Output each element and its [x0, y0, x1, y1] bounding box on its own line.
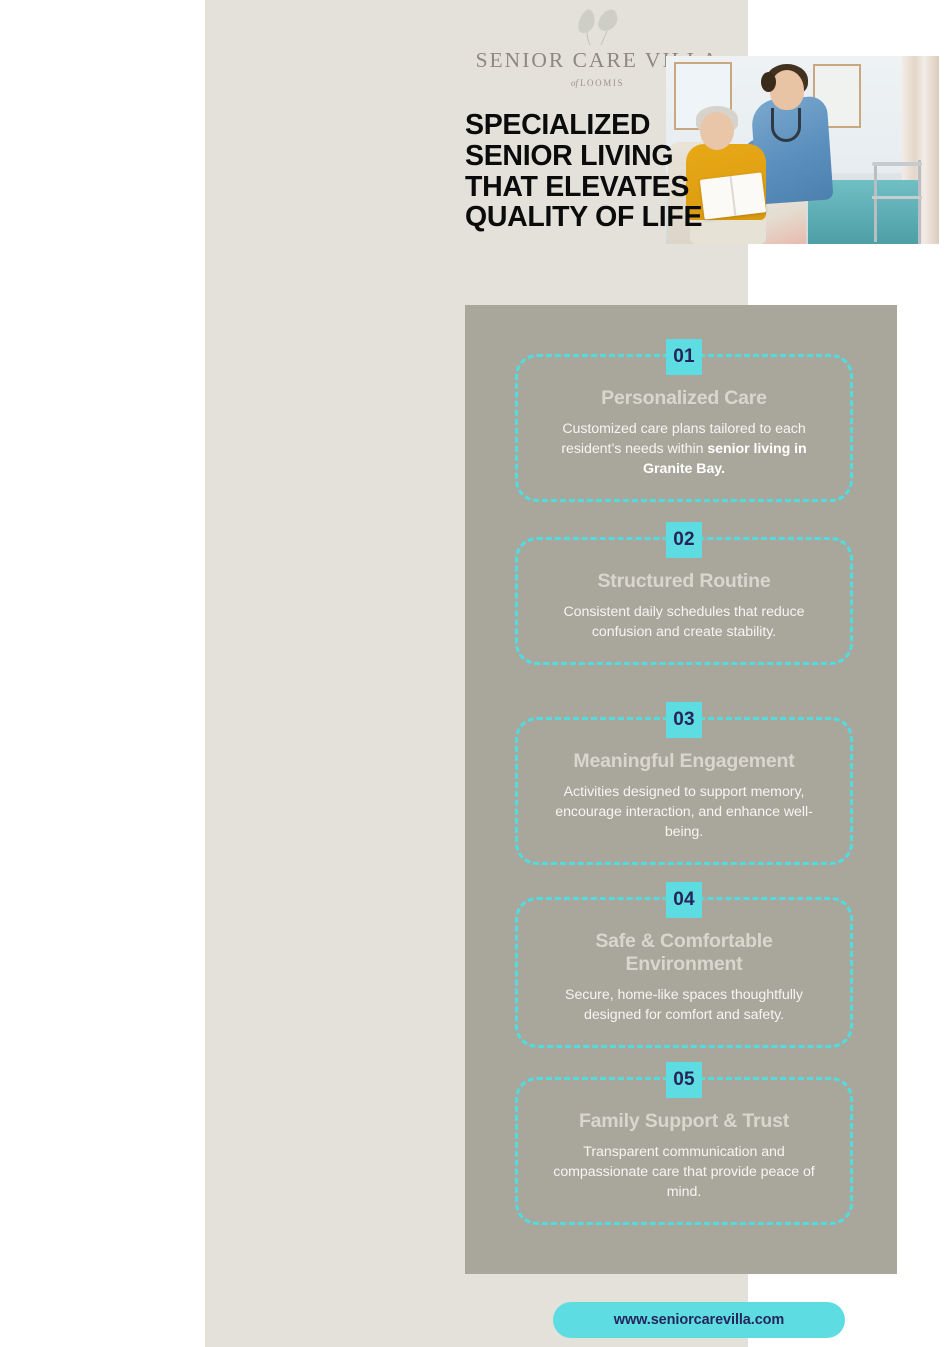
feature-card-05: 05 Family Support & Trust Transparent co…: [515, 1077, 853, 1225]
headline-line-3: THAT ELEVATES: [465, 172, 702, 203]
features-panel: 01 Personalized Care Customized care pla…: [465, 305, 897, 1274]
feature-number-badge: 01: [666, 339, 702, 375]
photo-nurse-hair-bun: [761, 72, 776, 92]
headline-line-1: SPECIALIZED: [465, 110, 702, 141]
feature-description: Secure, home-like spaces thoughtfully de…: [540, 985, 828, 1025]
feature-number-badge: 05: [666, 1062, 702, 1098]
hero-photo: [666, 56, 939, 244]
feature-card-03: 03 Meaningful Engagement Activities desi…: [515, 717, 853, 865]
photo-nurse-head: [770, 70, 804, 110]
feature-card-box: 01 Personalized Care Customized care pla…: [515, 354, 853, 502]
feature-description-text: Consistent daily schedules that reduce c…: [563, 604, 804, 640]
photo-walker-handle: [872, 162, 922, 166]
feature-title: Safe & Comfortable Environment: [540, 930, 828, 976]
feature-number-badge: 03: [666, 702, 702, 738]
feature-description-text: Secure, home-like spaces thoughtfully de…: [565, 987, 803, 1023]
feature-description: Customized care plans tailored to each r…: [540, 419, 828, 479]
feature-description-text: Transparent communication and compassion…: [553, 1144, 814, 1200]
headline-line-2: SENIOR LIVING: [465, 141, 702, 172]
brand-location-label: LOOMIS: [580, 78, 624, 88]
website-url-button[interactable]: www.seniorcarevilla.com: [553, 1302, 845, 1338]
headline-line-4: QUALITY OF LIFE: [465, 202, 702, 233]
photo-stethoscope: [771, 108, 801, 142]
photo-resident-head: [700, 112, 734, 150]
feature-card-box: 05 Family Support & Trust Transparent co…: [515, 1077, 853, 1225]
feature-title: Family Support & Trust: [540, 1110, 828, 1133]
feature-card-01: 01 Personalized Care Customized care pla…: [515, 354, 853, 502]
feature-card-box: 04 Safe & Comfortable Environment Secure…: [515, 897, 853, 1048]
feature-title: Structured Routine: [540, 570, 828, 593]
page-title: SPECIALIZED SENIOR LIVING THAT ELEVATES …: [465, 110, 702, 233]
feature-card-box: 03 Meaningful Engagement Activities desi…: [515, 717, 853, 865]
brand-of-word: of: [571, 78, 580, 88]
feature-description: Transparent communication and compassion…: [540, 1142, 828, 1202]
ginkgo-leaf-icon: [571, 6, 625, 46]
feature-number-badge: 02: [666, 522, 702, 558]
photo-walker-bar: [872, 196, 922, 199]
photo-walker-leg-left: [874, 162, 877, 242]
feature-title: Meaningful Engagement: [540, 750, 828, 773]
infographic-page: SENIOR CARE VILLA ofLOOMIS: [0, 0, 952, 1347]
feature-number-badge: 04: [666, 882, 702, 918]
feature-card-box: 02 Structured Routine Consistent daily s…: [515, 537, 853, 665]
feature-card-02: 02 Structured Routine Consistent daily s…: [515, 537, 853, 665]
feature-title: Personalized Care: [540, 387, 828, 410]
feature-description: Activities designed to support memory, e…: [540, 782, 828, 842]
infographic-sheet: SENIOR CARE VILLA ofLOOMIS: [205, 0, 748, 1347]
photo-walker-leg-right: [918, 160, 921, 244]
feature-card-04: 04 Safe & Comfortable Environment Secure…: [515, 897, 853, 1048]
feature-description-text: Activities designed to support memory, e…: [555, 784, 813, 840]
feature-description: Consistent daily schedules that reduce c…: [540, 602, 828, 642]
